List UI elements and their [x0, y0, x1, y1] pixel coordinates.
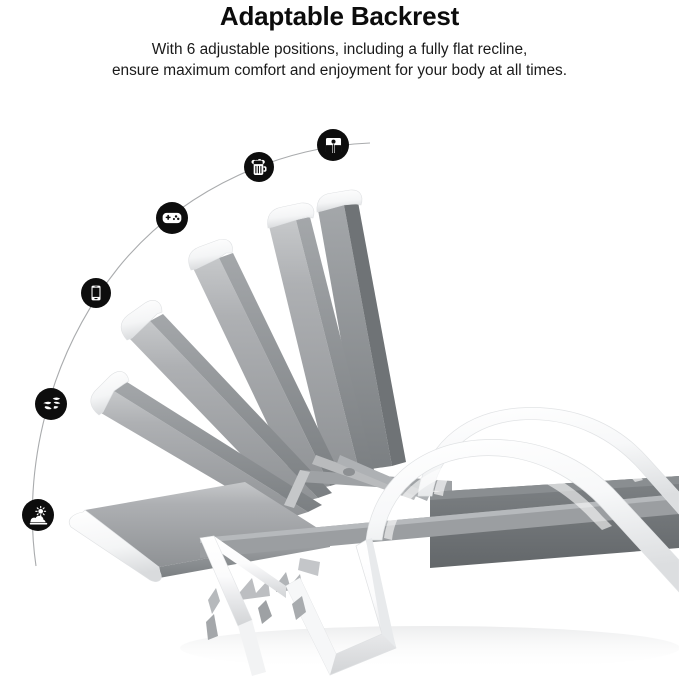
gamepad-icon	[161, 207, 183, 229]
badge-napping[interactable]	[35, 388, 67, 420]
badge-gaming[interactable]	[156, 202, 188, 234]
sun-cloud-icon	[28, 505, 49, 526]
beer-mug-icon	[249, 157, 269, 177]
badge-phone[interactable]	[81, 278, 111, 308]
product-illustration	[0, 0, 679, 683]
lounge-chair-diagram	[0, 0, 679, 683]
person-reading-icon	[323, 135, 344, 156]
badge-sunbathing[interactable]	[22, 499, 54, 531]
badge-reading[interactable]	[317, 129, 349, 161]
badge-drinking[interactable]	[244, 152, 274, 182]
product-infographic: Adaptable Backrest With 6 adjustable pos…	[0, 0, 679, 683]
sleeping-face-icon	[41, 394, 62, 415]
smartphone-icon	[87, 284, 105, 302]
